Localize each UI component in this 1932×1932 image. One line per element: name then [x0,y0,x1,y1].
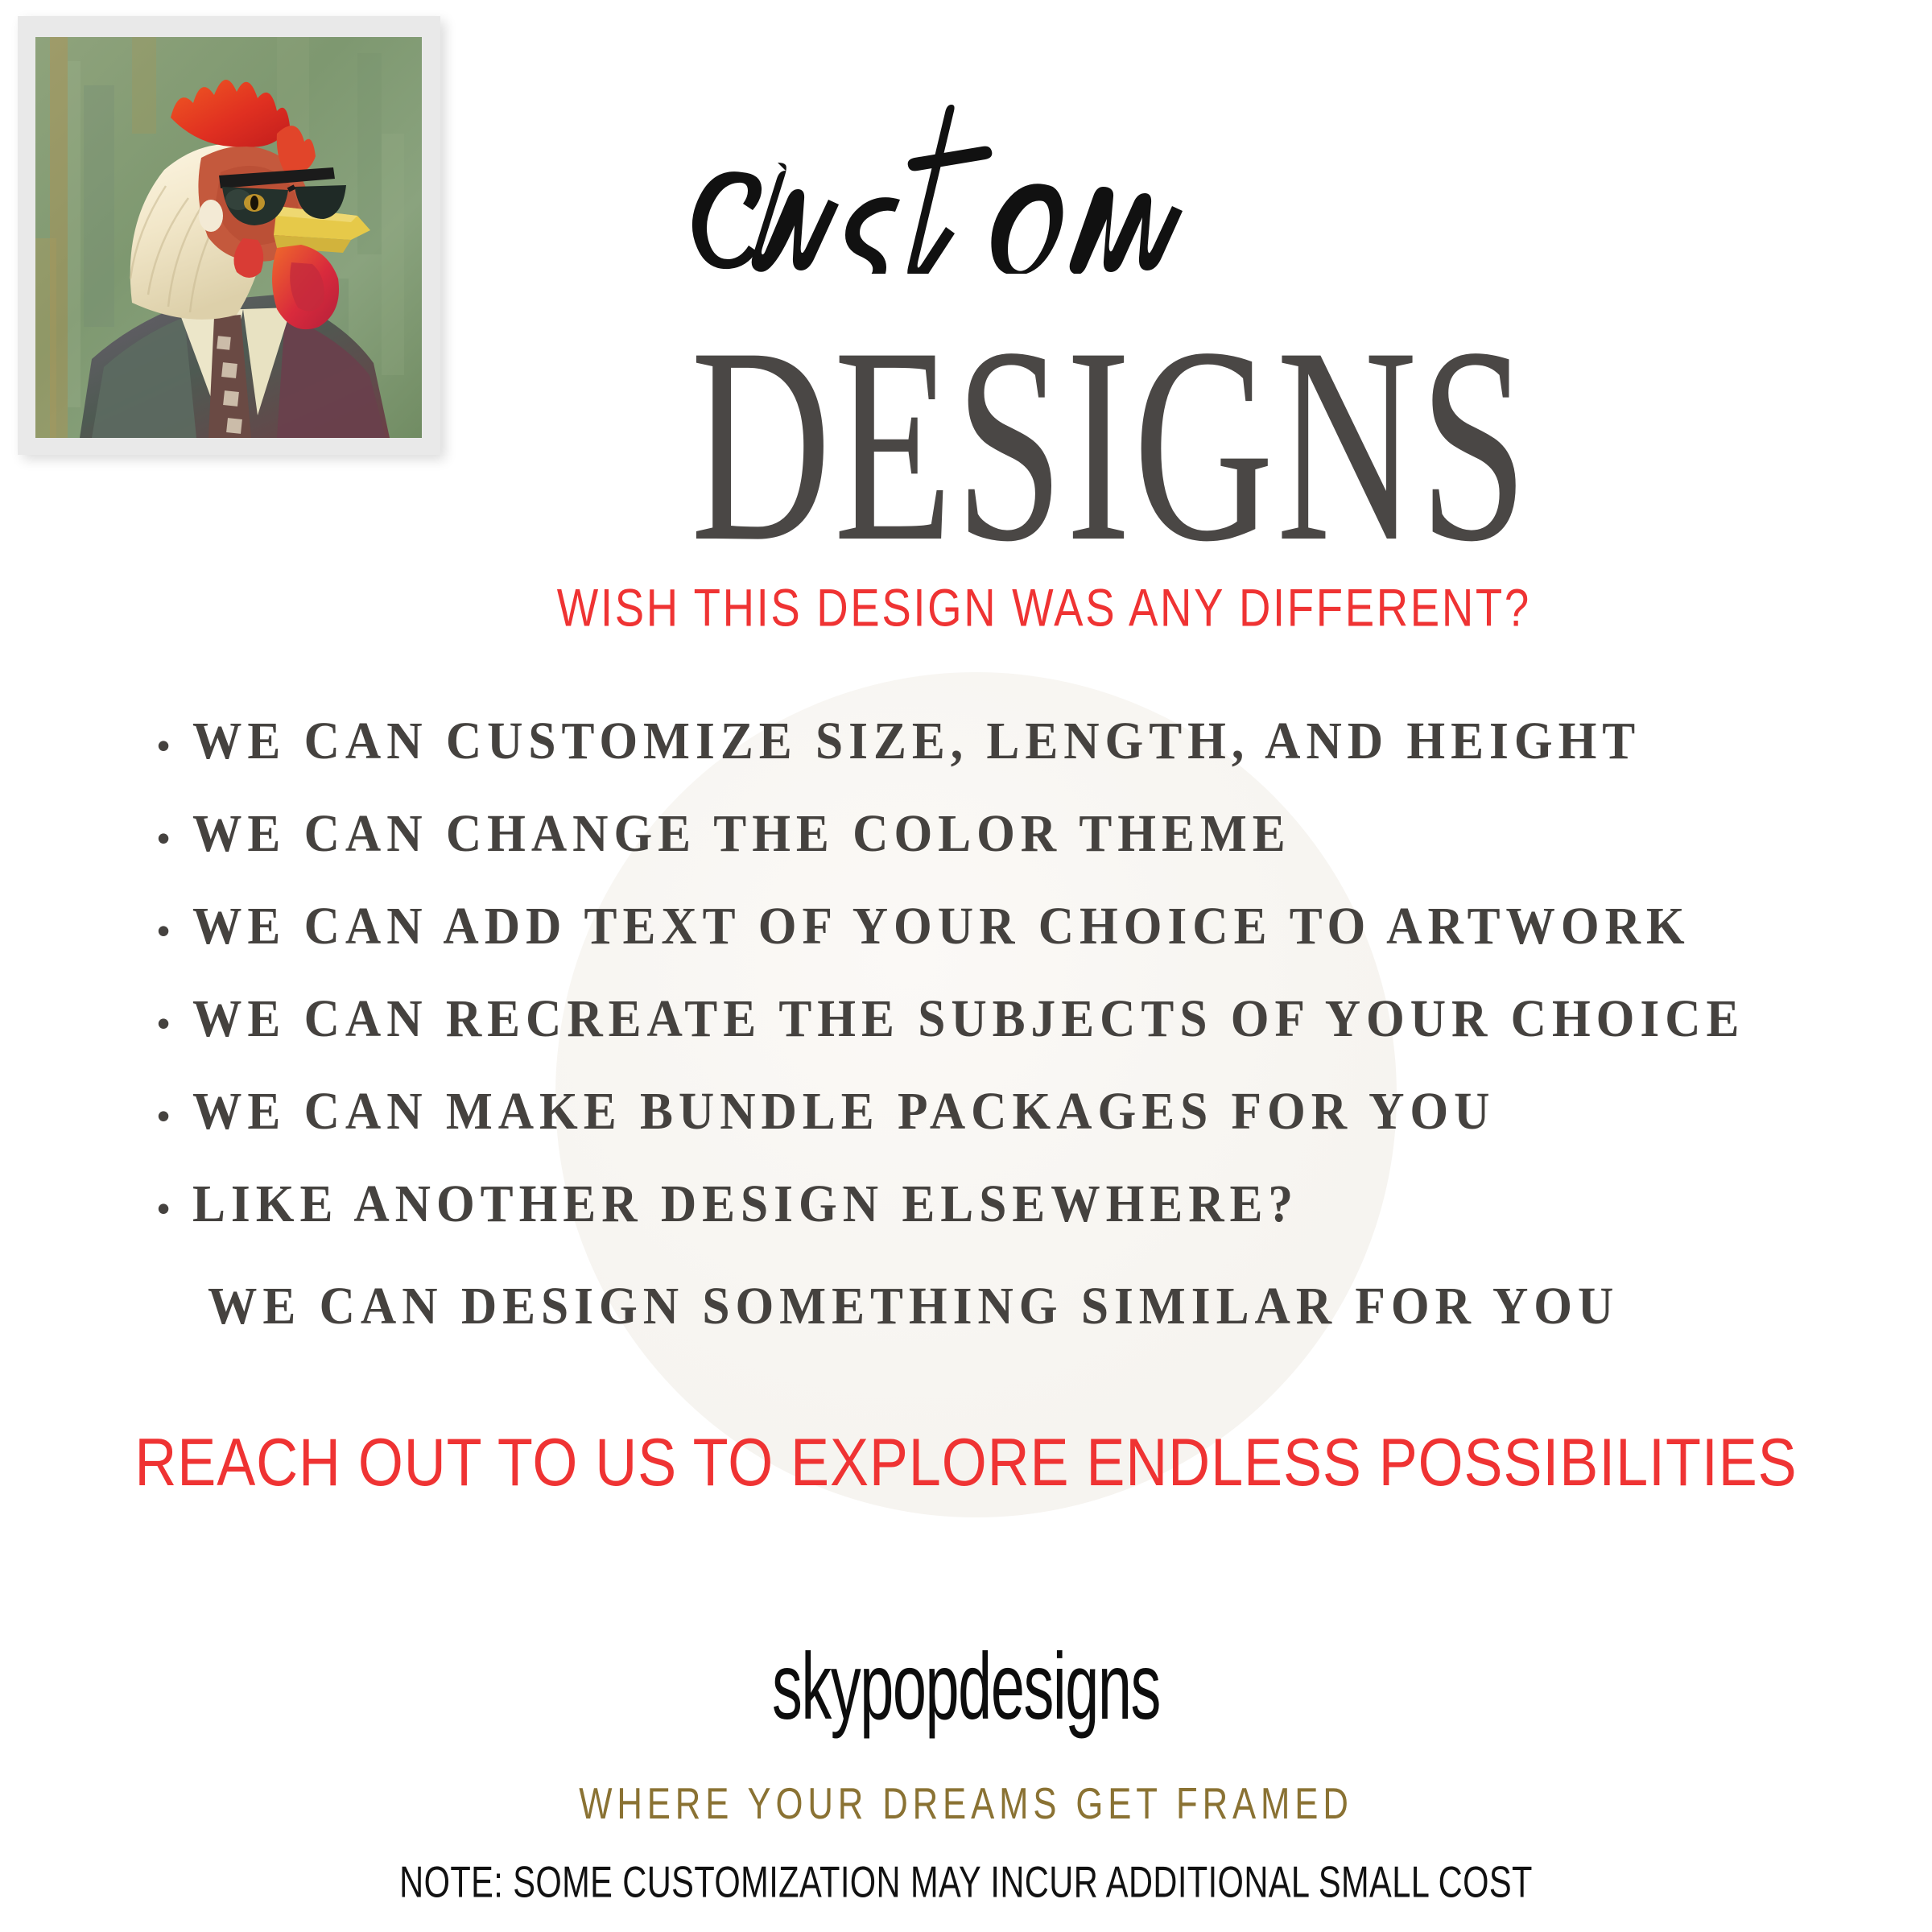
framed-artwork [18,16,440,455]
list-item-label: WE CAN MAKE BUNDLE PACKAGES FOR YOU [192,1079,1495,1145]
bullet-dot-icon: • [157,990,192,1056]
list-item: • WE CAN RECREATE THE SUBJECTS OF YOUR C… [157,986,1872,1052]
call-to-action-text: REACH OUT TO US TO EXPLORE ENDLESS POSSI… [97,1422,1835,1504]
list-item: • WE CAN CUSTOMIZE SIZE, LENGTH, AND HEI… [157,708,1872,774]
bullet-dot-icon: • [157,805,192,871]
list-item: • LIKE ANOTHER DESIGN ELSEWHERE? [157,1171,1872,1237]
list-item-label: WE CAN RECREATE THE SUBJECTS OF YOUR CHO… [192,986,1744,1052]
promo-graphic: DESIGNS WISH THIS DESIGN WAS ANY DIFFERE… [0,0,1932,1932]
list-item: • WE CAN MAKE BUNDLE PACKAGES FOR YOU [157,1079,1872,1145]
footer-note: NOTE: SOME CUSTOMIZATION MAY INCUR ADDIT… [193,1856,1739,1909]
bullet-dot-icon: • [157,1175,192,1241]
list-item: • WE CAN CHANGE THE COLOR THEME [157,801,1872,867]
bullet-dot-icon: • [157,712,192,778]
list-item-label: LIKE ANOTHER DESIGN ELSEWHERE? [192,1171,1298,1237]
bullet-dot-icon: • [157,1083,192,1149]
title-script-custom [684,97,1264,274]
feature-bullet-list: • WE CAN CUSTOMIZE SIZE, LENGTH, AND HEI… [157,708,1872,1264]
list-item-label: WE CAN CUSTOMIZE SIZE, LENGTH, AND HEIGH… [192,708,1641,774]
list-item: • WE CAN ADD TEXT OF YOUR CHOICE TO ARTW… [157,894,1872,960]
artwork-canvas [35,37,422,438]
brand-logo-text: skypopdesigns [290,1634,1642,1739]
brand-tagline: WHERE YOUR DREAMS GET FRAMED [155,1777,1777,1831]
bullet-dot-icon: • [157,898,192,964]
list-item-continuation: WE CAN DESIGN SOMETHING SIMILAR FOR YOU [208,1274,1619,1340]
list-item-label: WE CAN CHANGE THE COLOR THEME [192,801,1291,867]
list-item-label: WE CAN ADD TEXT OF YOUR CHOICE TO ARTWOR… [192,894,1690,960]
subheading: WISH THIS DESIGN WAS ANY DIFFERENT? [116,578,1816,639]
